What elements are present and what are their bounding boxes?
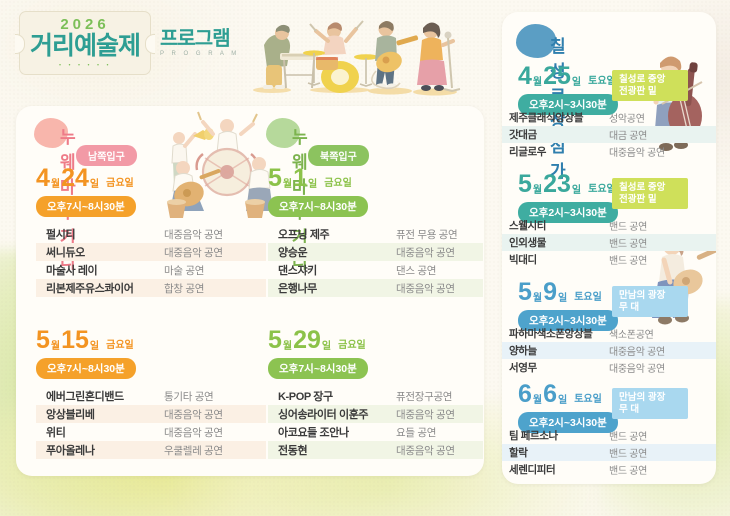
date-dow-may15: 금요일 — [106, 341, 134, 351]
act-name: 할락 — [509, 445, 609, 460]
date-dow-jun6: 토요일 — [574, 395, 602, 405]
venue-badge-jun6: 만남의 광장 무 대 — [612, 388, 688, 419]
logo-year: 2026 — [60, 17, 109, 32]
date-day-unit-apr24: 일 — [90, 180, 99, 190]
act-kind: 대중음악 공연 — [396, 281, 455, 296]
act-kind: 댄스 공연 — [396, 263, 436, 278]
date-day-jun6: 6 — [543, 382, 557, 407]
program-subtitle-en: P R O G R A M — [160, 51, 240, 57]
date-month-may29: 5 — [268, 328, 282, 353]
act-name: 양하늘 — [509, 343, 609, 358]
date-day-unit-may9: 일 — [558, 294, 567, 304]
table-row: 갓대금 대금 공연 — [502, 126, 716, 143]
act-kind: 요들 공연 — [396, 425, 436, 440]
logo-title: 거리예술제 — [30, 34, 140, 59]
drummer-figure — [303, 21, 378, 93]
venue-badge-apr25: 칠성로 중앙 전광판 밑 — [612, 70, 688, 101]
act-name: 위티 — [46, 424, 164, 440]
act-kind: 밴드 공연 — [609, 218, 647, 233]
program-subtitle-ko: 프로그램 — [160, 29, 240, 49]
date-month-unit-apr24: 월 — [51, 180, 60, 190]
table-row: 에버그린혼디밴드 통기타 공연 — [36, 387, 266, 405]
act-name: 인외생물 — [509, 235, 609, 250]
table-row: 빅대디 밴드 공연 — [502, 251, 716, 268]
act-kind: 밴드 공연 — [609, 462, 647, 477]
act-kind: 통기타 공연 — [164, 389, 213, 404]
act-kind: 대중음악 공연 — [164, 407, 223, 422]
festival-logo: 2026 거리예술제 ・・・・・・ — [19, 11, 151, 75]
guitarist-figure — [368, 21, 419, 95]
date-day-unit-may29: 일 — [322, 342, 331, 352]
act-kind: 밴드 공연 — [609, 252, 647, 267]
date-day-may29: 29 — [293, 328, 321, 353]
date-month-jun6: 6 — [518, 382, 532, 407]
date-line-apr24: 4 월 24 일 금요일 — [36, 166, 256, 191]
table-row: 마술사 레이 마술 공연 — [36, 261, 266, 279]
act-kind: 밴드 공연 — [609, 235, 647, 250]
act-list-may1: 오프닝 제주 퓨전 무용 공연 양승운 대중음악 공연 댄스쟈키 댄스 공연 은… — [268, 225, 483, 297]
date-day-may1: 1 — [293, 166, 307, 191]
act-name: 앙상블리베 — [46, 406, 164, 422]
date-month-unit-may9: 월 — [533, 294, 542, 304]
vocalist-figure — [413, 22, 460, 95]
date-day-unit-jun6: 일 — [558, 396, 567, 406]
act-kind: 대금 공연 — [609, 127, 647, 142]
poster-canvas: 2026 거리예술제 ・・・・・・ 프로그램 P R O G R A M — [0, 0, 730, 516]
table-row: K-POP 장구 퓨전장구공연 — [268, 387, 483, 405]
date-month-unit-apr25: 월 — [533, 78, 542, 88]
act-kind: 대중음악 공연 — [609, 343, 665, 358]
date-line-may15: 5 월 15 일 금요일 — [36, 328, 256, 353]
date-day-unit-may1: 일 — [308, 180, 317, 190]
date-block-may1: 5 월 1 일 금요일 오후7시~8시30분 오프닝 제주 퓨전 무용 공연 양… — [268, 166, 478, 297]
date-month-may9: 5 — [518, 280, 532, 305]
act-name: 댄스쟈키 — [278, 262, 396, 278]
act-list-may15: 에버그린혼디밴드 통기타 공연 앙상블리베 대중음악 공연 위티 대중음악 공연… — [36, 387, 266, 459]
table-row: 세렌디피터 밴드 공연 — [502, 461, 716, 478]
table-row: 제주클래식앙상블 성악공연 — [502, 109, 716, 126]
act-kind: 마술 공연 — [164, 263, 204, 278]
table-row: 리글로우 대중음악 공연 — [502, 143, 716, 160]
act-kind: 대중음악 공연 — [609, 144, 665, 159]
act-kind: 퓨전 무용 공연 — [396, 227, 457, 242]
date-dow-may1: 금요일 — [324, 179, 352, 189]
table-row: 파하마색소폰앙상블 색소폰공연 — [502, 325, 716, 342]
act-name: 써니듀오 — [46, 244, 164, 260]
date-month-apr25: 4 — [518, 64, 532, 89]
date-day-unit-may23: 일 — [572, 186, 581, 196]
act-name: 팀 페르소나 — [509, 428, 609, 443]
act-list-may9: 파하마색소폰앙상블 색소폰공연 양하늘 대중음악 공연 서영무 대중음악 공연 — [502, 325, 716, 376]
date-block-apr24: 4 월 24 일 금요일 오후7시~8시30분 펄시티 대중음악 공연 써니듀오… — [36, 166, 256, 297]
act-kind: 대중음악 공연 — [396, 245, 455, 260]
act-kind: 우쿨렐레 공연 — [164, 443, 223, 458]
date-month-unit-may23: 월 — [533, 186, 542, 196]
date-block-may15: 5 월 15 일 금요일 오후7시~8시30분 에버그린혼디밴드 통기타 공연 … — [36, 328, 256, 459]
act-list-may29: K-POP 장구 퓨전장구공연 싱어송라이터 이훈주 대중음악 공연 아코요들 … — [268, 387, 483, 459]
act-kind: 대중음악 공연 — [396, 407, 455, 422]
table-row: 써니듀오 대중음악 공연 — [36, 243, 266, 261]
act-kind: 성악공연 — [609, 110, 645, 125]
venue-badge-may23: 칠성로 중앙 전광판 밑 — [612, 178, 688, 209]
act-name: 은행나무 — [278, 280, 396, 296]
table-row: 오프닝 제주 퓨전 무용 공연 — [268, 225, 483, 243]
date-month-apr24: 4 — [36, 166, 50, 191]
act-kind: 대중음악 공연 — [396, 443, 455, 458]
program-subtitle: 프로그램 P R O G R A M — [160, 29, 240, 57]
act-name: 제주클래식앙상블 — [509, 110, 609, 125]
act-name: 펄시티 — [46, 226, 164, 242]
act-list-jun6: 팀 페르소나 밴드 공연 할락 밴드 공연 세렌디피터 밴드 공연 — [502, 427, 716, 478]
table-row: 위티 대중음악 공연 — [36, 423, 266, 441]
act-name: 전동현 — [278, 442, 396, 458]
time-pill-apr24: 오후7시~8시30분 — [36, 196, 136, 217]
act-name: 아코요들 조안나 — [278, 424, 396, 440]
table-row: 양하늘 대중음악 공연 — [502, 342, 716, 359]
act-list-apr25: 제주클래식앙상블 성악공연 갓대금 대금 공연 리글로우 대중음악 공연 — [502, 109, 716, 160]
table-row: 전동현 대중음악 공연 — [268, 441, 483, 459]
act-name: 양승운 — [278, 244, 396, 260]
act-kind: 밴드 공연 — [609, 428, 647, 443]
act-kind: 밴드 공연 — [609, 445, 647, 460]
act-name: 리글로우 — [509, 144, 609, 159]
time-pill-may1: 오후7시~8시30분 — [268, 196, 368, 217]
table-row: 스웰시티 밴드 공연 — [502, 217, 716, 234]
table-row: 펄시티 대중음악 공연 — [36, 225, 266, 243]
date-month-may23: 5 — [518, 172, 532, 197]
act-name: 갓대금 — [509, 127, 609, 142]
chilseongno-panel: 칠성로 상점가 — [502, 12, 716, 484]
act-kind: 대중음악 공연 — [164, 245, 223, 260]
act-kind: 색소폰공연 — [609, 326, 654, 341]
date-day-apr24: 24 — [61, 166, 89, 191]
act-name: 서영무 — [509, 360, 609, 375]
act-name: 세렌디피터 — [509, 462, 609, 477]
date-month-may1: 5 — [268, 166, 282, 191]
table-row: 아코요들 조안나 요들 공연 — [268, 423, 483, 441]
table-row: 양승운 대중음악 공연 — [268, 243, 483, 261]
date-month-unit-may15: 월 — [51, 342, 60, 352]
column-badge-north: 북쪽입구 — [308, 145, 369, 166]
table-row: 서영무 대중음악 공연 — [502, 359, 716, 376]
date-block-may29: 5 월 29 일 금요일 오후7시~8시30분 K-POP 장구 퓨전장구공연 … — [268, 328, 478, 459]
act-name: 빅대디 — [509, 252, 609, 267]
act-kind: 대중음악 공연 — [164, 227, 223, 242]
act-name: 오프닝 제주 — [278, 226, 396, 242]
date-line-may29: 5 월 29 일 금요일 — [268, 328, 478, 353]
date-day-may15: 15 — [61, 328, 89, 353]
table-row: 은행나무 대중음악 공연 — [268, 279, 483, 297]
table-row: 할락 밴드 공연 — [502, 444, 716, 461]
date-dow-apr24: 금요일 — [106, 179, 134, 189]
table-row: 팀 페르소나 밴드 공연 — [502, 427, 716, 444]
date-day-may23: 23 — [543, 172, 571, 197]
act-name: K-POP 장구 — [278, 388, 396, 404]
date-month-unit-may29: 월 — [283, 342, 292, 352]
date-month-may15: 5 — [36, 328, 50, 353]
date-day-unit-may15: 일 — [90, 342, 99, 352]
act-name: 파하마색소폰앙상블 — [509, 326, 609, 341]
column-badge-south: 남쪽입구 — [76, 145, 137, 166]
act-kind: 대중음악 공연 — [164, 425, 223, 440]
date-dow-may29: 금요일 — [338, 341, 366, 351]
table-row: 앙상블리베 대중음악 공연 — [36, 405, 266, 423]
nuwemaru-panel: 누웨마루 거리 남쪽입구 4 월 24 일 금요일 오후7시~8시30분 펄시티… — [16, 106, 484, 476]
table-row: 댄스쟈키 댄스 공연 — [268, 261, 483, 279]
act-kind: 합창 공연 — [164, 281, 204, 296]
date-day-may9: 9 — [543, 280, 557, 305]
time-pill-may15: 오후7시~8시30분 — [36, 358, 136, 379]
act-name: 마술사 레이 — [46, 262, 164, 278]
date-month-unit-jun6: 월 — [533, 396, 542, 406]
act-name: 리본제주유스콰이어 — [46, 280, 164, 296]
table-row: 인외생물 밴드 공연 — [502, 234, 716, 251]
table-row: 푸아올레나 우쿨렐레 공연 — [36, 441, 266, 459]
act-name: 에버그린혼디밴드 — [46, 388, 164, 404]
date-day-unit-apr25: 일 — [572, 78, 581, 88]
date-month-unit-may1: 월 — [283, 180, 292, 190]
act-kind: 퓨전장구공연 — [396, 389, 452, 404]
time-pill-may29: 오후7시~8시30분 — [268, 358, 368, 379]
act-list-apr24: 펄시티 대중음악 공연 써니듀오 대중음악 공연 마술사 레이 마술 공연 리본… — [36, 225, 266, 297]
act-name: 싱어송라이터 이훈주 — [278, 406, 396, 422]
act-kind: 대중음악 공연 — [609, 360, 665, 375]
logo-dots: ・・・・・・ — [57, 62, 114, 69]
date-dow-may9: 토요일 — [574, 293, 602, 303]
venue-badge-may9: 만남의 광장 무 대 — [612, 286, 688, 317]
act-name: 푸아올레나 — [46, 442, 164, 458]
band-illustration — [250, 5, 465, 97]
table-row: 싱어송라이터 이훈주 대중음악 공연 — [268, 405, 483, 423]
act-name: 스웰시티 — [509, 218, 609, 233]
date-line-may1: 5 월 1 일 금요일 — [268, 166, 478, 191]
date-day-apr25: 25 — [543, 64, 571, 89]
table-row: 리본제주유스콰이어 합창 공연 — [36, 279, 266, 297]
act-list-may23: 스웰시티 밴드 공연 인외생물 밴드 공연 빅대디 밴드 공연 — [502, 217, 716, 268]
